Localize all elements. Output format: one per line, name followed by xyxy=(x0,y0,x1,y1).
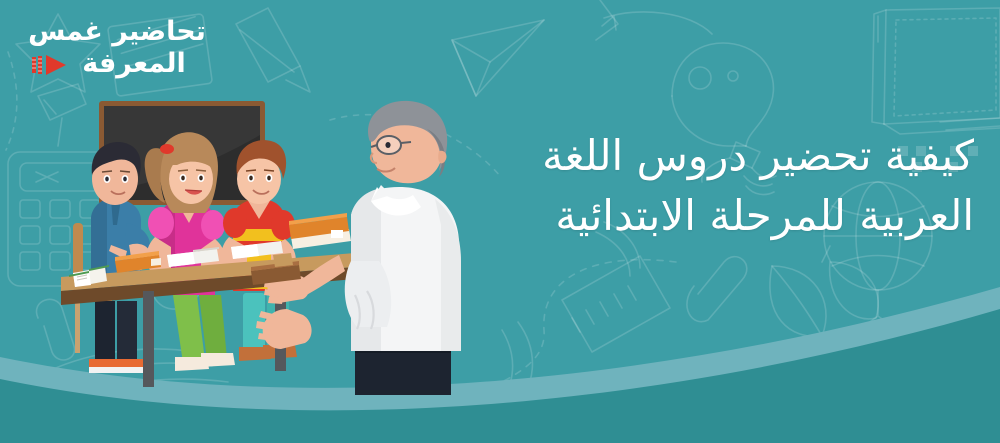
page-title-line-1: كيفية تحضير دروس اللغة xyxy=(404,126,974,186)
play-arrow-pencil-mark xyxy=(30,54,70,76)
page-title-line-2: العربية للمرحلة الابتدائية xyxy=(404,186,974,246)
logo-line-1: تحاضير غمس xyxy=(22,18,212,45)
page-title: كيفية تحضير دروس اللغة العربية للمرحلة ا… xyxy=(404,126,974,245)
banner: تحاضير غمس المعرفة كيفية تحضير دروس اللغ… xyxy=(0,0,1000,443)
book-stack xyxy=(289,213,351,249)
